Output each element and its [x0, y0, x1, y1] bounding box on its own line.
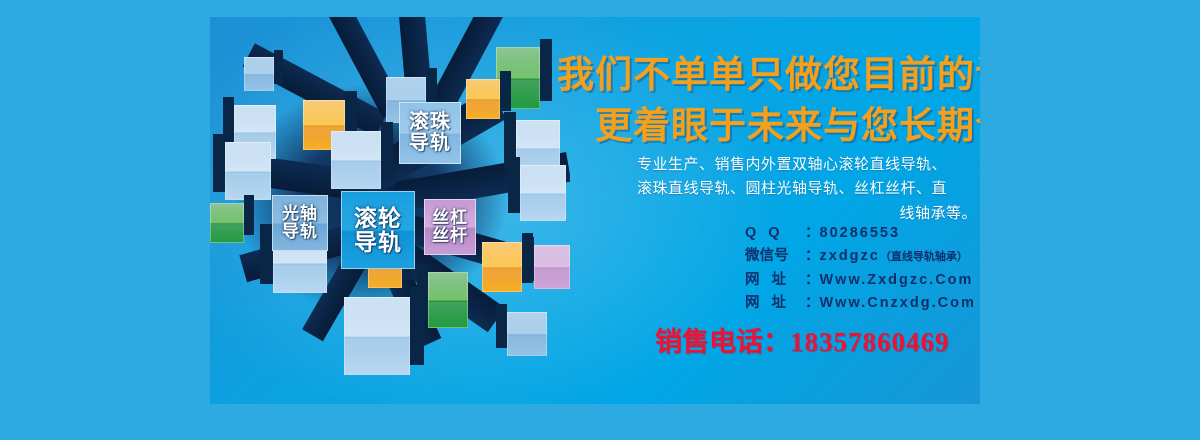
- qq-separator: ：: [805, 222, 820, 245]
- description-line1: 专业生产、销售内外置双轴心滚轮直线导轨、: [607, 153, 977, 177]
- cube: [482, 242, 522, 292]
- wechat-value: zxdgzc: [820, 245, 880, 268]
- lead-screw-line2: 丝杆: [432, 227, 468, 245]
- sales-phone-number: 18357860469: [790, 327, 950, 357]
- website-2-value: Www.Cnzxdg.Com: [820, 292, 976, 315]
- website-1-value: Www.Zxdgzc.Com: [820, 269, 974, 292]
- qq-value: 80286553: [820, 222, 901, 245]
- wechat-separator: ：: [805, 245, 820, 268]
- sales-phone-label: 销售电话：: [655, 327, 790, 357]
- website-2-separator: ：: [805, 292, 820, 315]
- roller-guide-line2: 导轨: [354, 230, 402, 254]
- ball-guide-line2: 导轨: [409, 133, 451, 154]
- wechat-label: 微信号: [745, 245, 805, 268]
- product-label-roller-guide[interactable]: 滚轮 导轨: [341, 191, 415, 269]
- product-label-ball-guide[interactable]: 滚珠 导轨: [399, 102, 461, 164]
- promo-banner: 滚珠 导轨 光轴 导轨 滚轮 导轨 丝杠 丝杆: [210, 17, 980, 404]
- cube: [534, 245, 570, 289]
- cube: [210, 203, 244, 243]
- sales-phone[interactable]: 销售电话：18357860469: [655, 320, 950, 359]
- contact-row-wechat[interactable]: 微信号 ： zxdgzc （直线导轨轴承）: [745, 245, 976, 268]
- cube: [244, 57, 274, 91]
- banner-page: 滚珠 导轨 光轴 导轨 滚轮 导轨 丝杠 丝杆: [0, 0, 1200, 440]
- headline-line2: 更着眼于未来与您长期合作: [595, 95, 980, 149]
- description-line2: 滚珠直线导轨、圆柱光轴导轨、丝杠丝杆、直: [607, 177, 977, 201]
- wechat-note: （直线导轨轴承）: [880, 249, 968, 267]
- cube: [466, 79, 500, 119]
- cube: [344, 297, 410, 375]
- contact-row-qq[interactable]: Q Q ： 80286553: [745, 222, 976, 245]
- cube: [331, 131, 381, 189]
- optical-shaft-line1: 光轴: [282, 205, 318, 223]
- company-description: 专业生产、销售内外置双轴心滚轮直线导轨、 滚珠直线导轨、圆柱光轴导轨、丝杠丝杆、…: [607, 153, 977, 226]
- qq-label: Q Q: [745, 222, 805, 245]
- cube: [225, 142, 271, 200]
- ball-guide-line1: 滚珠: [409, 112, 451, 133]
- lead-screw-line1: 丝杠: [432, 209, 468, 227]
- website-1-separator: ：: [805, 269, 820, 292]
- cube: [520, 165, 566, 221]
- cube: [507, 312, 547, 356]
- product-label-lead-screw[interactable]: 丝杠 丝杆: [424, 199, 476, 255]
- contact-info: Q Q ： 80286553 微信号 ： zxdgzc （直线导轨轴承） 网 址…: [745, 222, 976, 316]
- contact-row-website-2[interactable]: 网 址 ： Www.Cnzxdg.Com: [745, 292, 976, 315]
- optical-shaft-line2: 导轨: [282, 223, 318, 241]
- website-1-label: 网 址: [745, 269, 805, 292]
- roller-guide-line1: 滚轮: [354, 206, 402, 230]
- website-2-label: 网 址: [745, 292, 805, 315]
- cube-cluster-graphic: 滚珠 导轨 光轴 导轨 滚轮 导轨 丝杠 丝杆: [210, 17, 570, 404]
- product-label-optical-shaft[interactable]: 光轴 导轨: [272, 195, 328, 251]
- headline-line1: 我们不单单只做您目前的订单: [557, 44, 980, 98]
- cube: [428, 272, 468, 328]
- contact-row-website-1[interactable]: 网 址 ： Www.Zxdgzc.Com: [745, 269, 976, 292]
